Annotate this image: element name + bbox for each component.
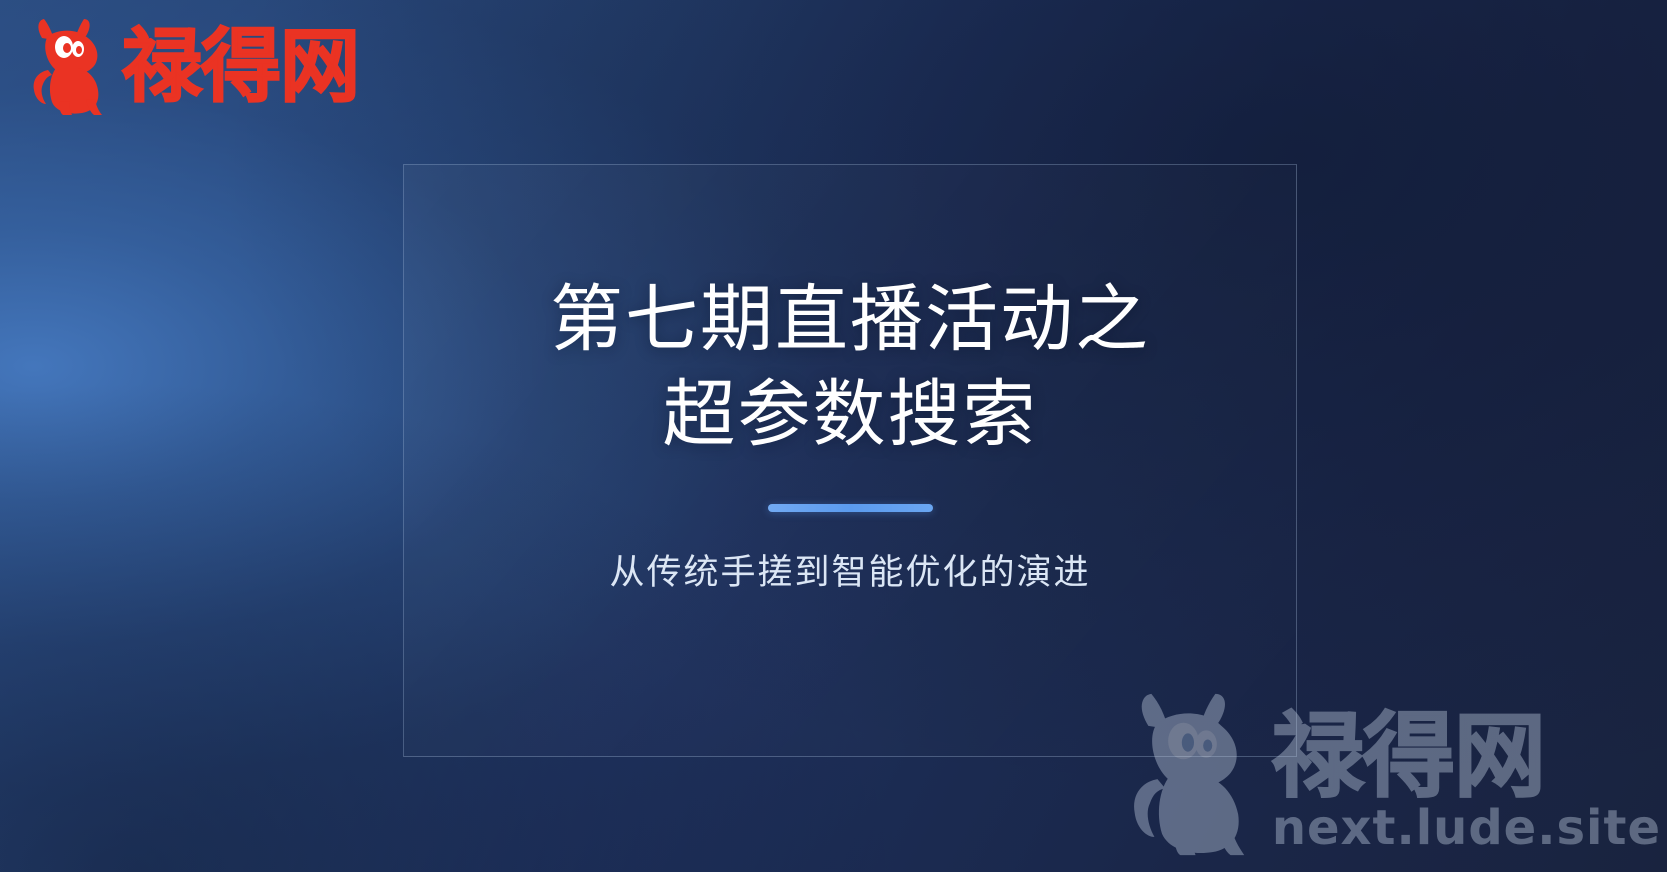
presentation-slide: 禄得网 第七期直播活动之 超参数搜索 从传统手搓到智能优化的演进 [0,0,1667,872]
title-group: 第七期直播活动之 超参数搜索 从传统手搓到智能优化的演进 [403,164,1297,757]
brand-logo[interactable]: 禄得网 [26,16,359,118]
title-divider [768,504,933,512]
slide-title: 第七期直播活动之 超参数搜索 [550,273,1150,463]
slide-subtitle: 从传统手搓到智能优化的演进 [609,552,1090,594]
brand-logo-wordmark: 禄得网 [122,27,359,107]
red-bull-mascot-icon [26,18,118,116]
